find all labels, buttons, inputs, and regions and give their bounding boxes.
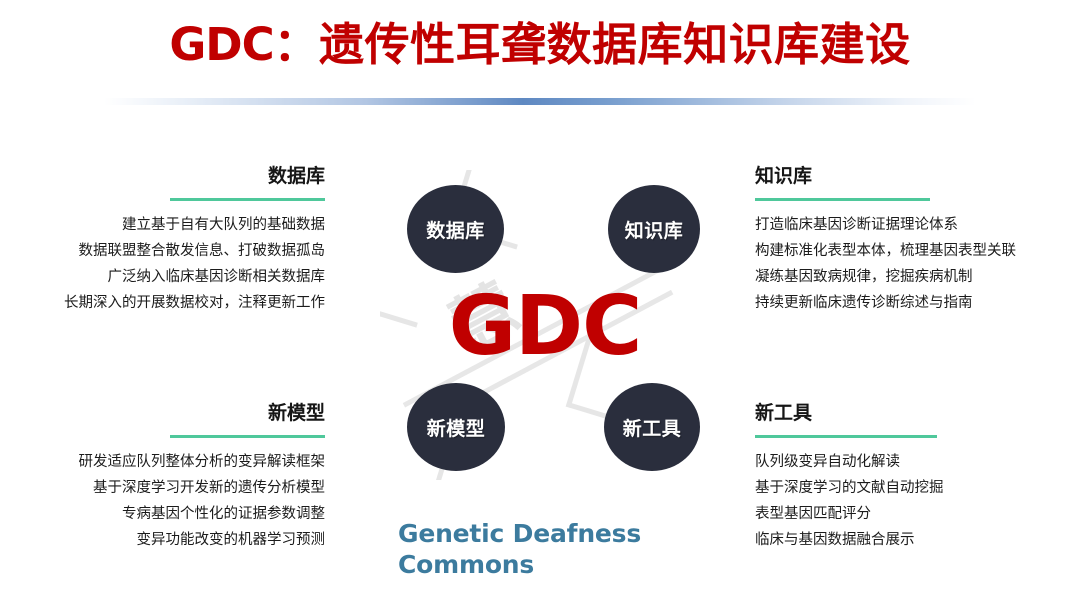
node-newmodel[interactable]: 新模型: [407, 383, 505, 471]
block-newtool-rule: [755, 435, 937, 438]
block-newmodel-lines: 研发适应队列整体分析的变异解读框架 基于深度学习开发新的遗传分析模型 专病基因个…: [15, 449, 325, 553]
page-title-zh: 遗传性耳聋数据库知识库建设: [319, 16, 911, 74]
center-subtitle-line2: Commons: [398, 549, 698, 580]
list-item: 队列级变异自动化解读: [755, 449, 1075, 475]
node-newmodel-label: 新模型: [427, 414, 486, 441]
center-logo: GDC: [380, 286, 710, 368]
block-newmodel-heading: 新模型: [15, 400, 325, 426]
list-item: 建立基于自有大队列的基础数据: [15, 212, 325, 238]
list-item: 表型基因匹配评分: [755, 501, 1075, 527]
list-item: 构建标准化表型本体，梳理基因表型关联: [755, 238, 1075, 264]
node-newtool-label: 新工具: [623, 414, 682, 441]
list-item: 基于深度学习的文献自动挖掘: [755, 475, 1075, 501]
block-knowledge-rule: [755, 198, 930, 201]
list-item: 临床与基因数据融合展示: [755, 527, 1075, 553]
block-newtool: 新工具 队列级变异自动化解读 基于深度学习的文献自动挖掘 表型基因匹配评分 临床…: [755, 400, 1075, 553]
node-database[interactable]: 数据库: [407, 185, 504, 273]
center-subtitle: Genetic Deafness Commons: [398, 518, 698, 580]
list-item: 广泛纳入临床基因诊断相关数据库: [15, 264, 325, 290]
page-title-en: GDC: [169, 16, 273, 74]
list-item: 打造临床基因诊断证据理论体系: [755, 212, 1075, 238]
list-item: 研发适应队列整体分析的变异解读框架: [15, 449, 325, 475]
block-knowledge-heading: 知识库: [755, 163, 1075, 189]
block-newmodel: 新模型 研发适应队列整体分析的变异解读框架 基于深度学习开发新的遗传分析模型 专…: [15, 400, 325, 553]
block-newmodel-rule: [170, 435, 325, 438]
list-item: 专病基因个性化的证据参数调整: [15, 501, 325, 527]
block-database-heading: 数据库: [15, 163, 325, 189]
title-divider: [104, 98, 976, 105]
block-knowledge: 知识库 打造临床基因诊断证据理论体系 构建标准化表型本体，梳理基因表型关联 凝练…: [755, 163, 1075, 316]
block-database-rule: [170, 198, 325, 201]
page-title-separator: ：: [274, 16, 320, 74]
list-item: 数据联盟整合散发信息、打破数据孤岛: [15, 238, 325, 264]
block-knowledge-lines: 打造临床基因诊断证据理论体系 构建标准化表型本体，梳理基因表型关联 凝练基因致病…: [755, 212, 1075, 316]
list-item: 长期深入的开展数据校对，注释更新工作: [15, 290, 325, 316]
node-newtool[interactable]: 新工具: [604, 383, 700, 471]
center-subtitle-line1: Genetic Deafness: [398, 518, 698, 549]
list-item: 持续更新临床遗传诊断综述与指南: [755, 290, 1075, 316]
list-item: 变异功能改变的机器学习预测: [15, 527, 325, 553]
page-title: GDC：遗传性耳聋数据库知识库建设: [0, 16, 1080, 74]
node-knowledge[interactable]: 知识库: [608, 185, 700, 273]
slide-canvas: GDC：遗传性耳聋数据库知识库建设 慧 数据库 知识库 新模型 新工具 GDC …: [0, 0, 1080, 608]
block-database-lines: 建立基于自有大队列的基础数据 数据联盟整合散发信息、打破数据孤岛 广泛纳入临床基…: [15, 212, 325, 316]
block-newtool-heading: 新工具: [755, 400, 1075, 426]
node-knowledge-label: 知识库: [625, 216, 684, 243]
list-item: 凝练基因致病规律，挖掘疾病机制: [755, 264, 1075, 290]
node-database-label: 数据库: [426, 216, 485, 243]
list-item: 基于深度学习开发新的遗传分析模型: [15, 475, 325, 501]
block-newtool-lines: 队列级变异自动化解读 基于深度学习的文献自动挖掘 表型基因匹配评分 临床与基因数…: [755, 449, 1075, 553]
block-database: 数据库 建立基于自有大队列的基础数据 数据联盟整合散发信息、打破数据孤岛 广泛纳…: [15, 163, 325, 316]
